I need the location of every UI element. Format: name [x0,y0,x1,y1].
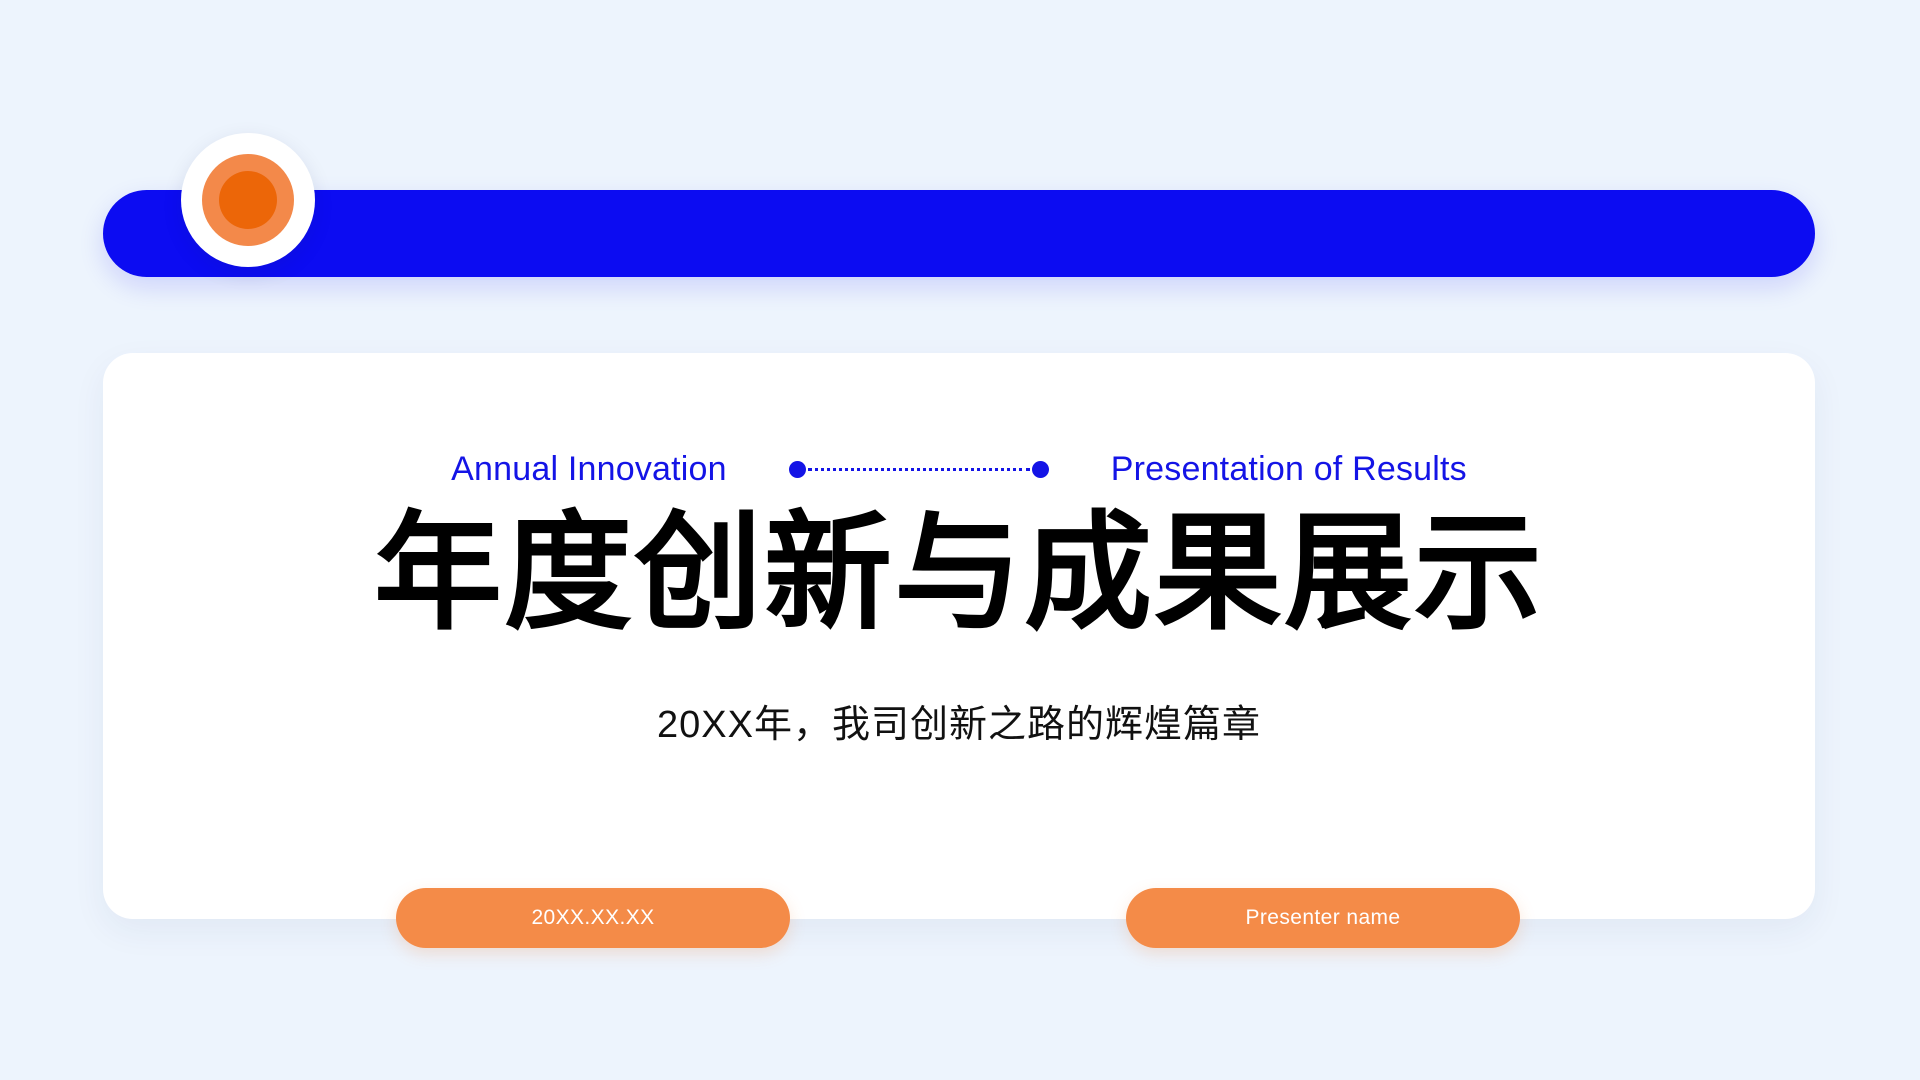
circle-badge-mid-ring [202,154,294,246]
circle-badge-icon [181,133,315,267]
title-card: Annual Innovation Presentation of Result… [103,353,1815,919]
presentation-slide: Annual Innovation Presentation of Result… [0,0,1920,1080]
eyebrow-right-label: Presentation of Results [1111,450,1467,489]
eyebrow-left-label: Annual Innovation [451,450,727,489]
connector-dotted-line [808,468,1030,471]
connector-dot-left [789,461,806,478]
presenter-pill[interactable]: Presenter name [1126,888,1520,948]
page-title: 年度创新与成果展示 [103,498,1815,649]
dotted-connector-icon [789,461,1049,478]
page-subtitle: 20XX年，我司创新之路的辉煌篇章 [103,693,1815,748]
date-pill[interactable]: 20XX.XX.XX [396,888,790,948]
eyebrow-row: Annual Innovation Presentation of Result… [103,450,1815,489]
top-accent-bar [103,190,1815,277]
circle-badge-core [219,171,277,229]
connector-dot-right [1032,461,1049,478]
